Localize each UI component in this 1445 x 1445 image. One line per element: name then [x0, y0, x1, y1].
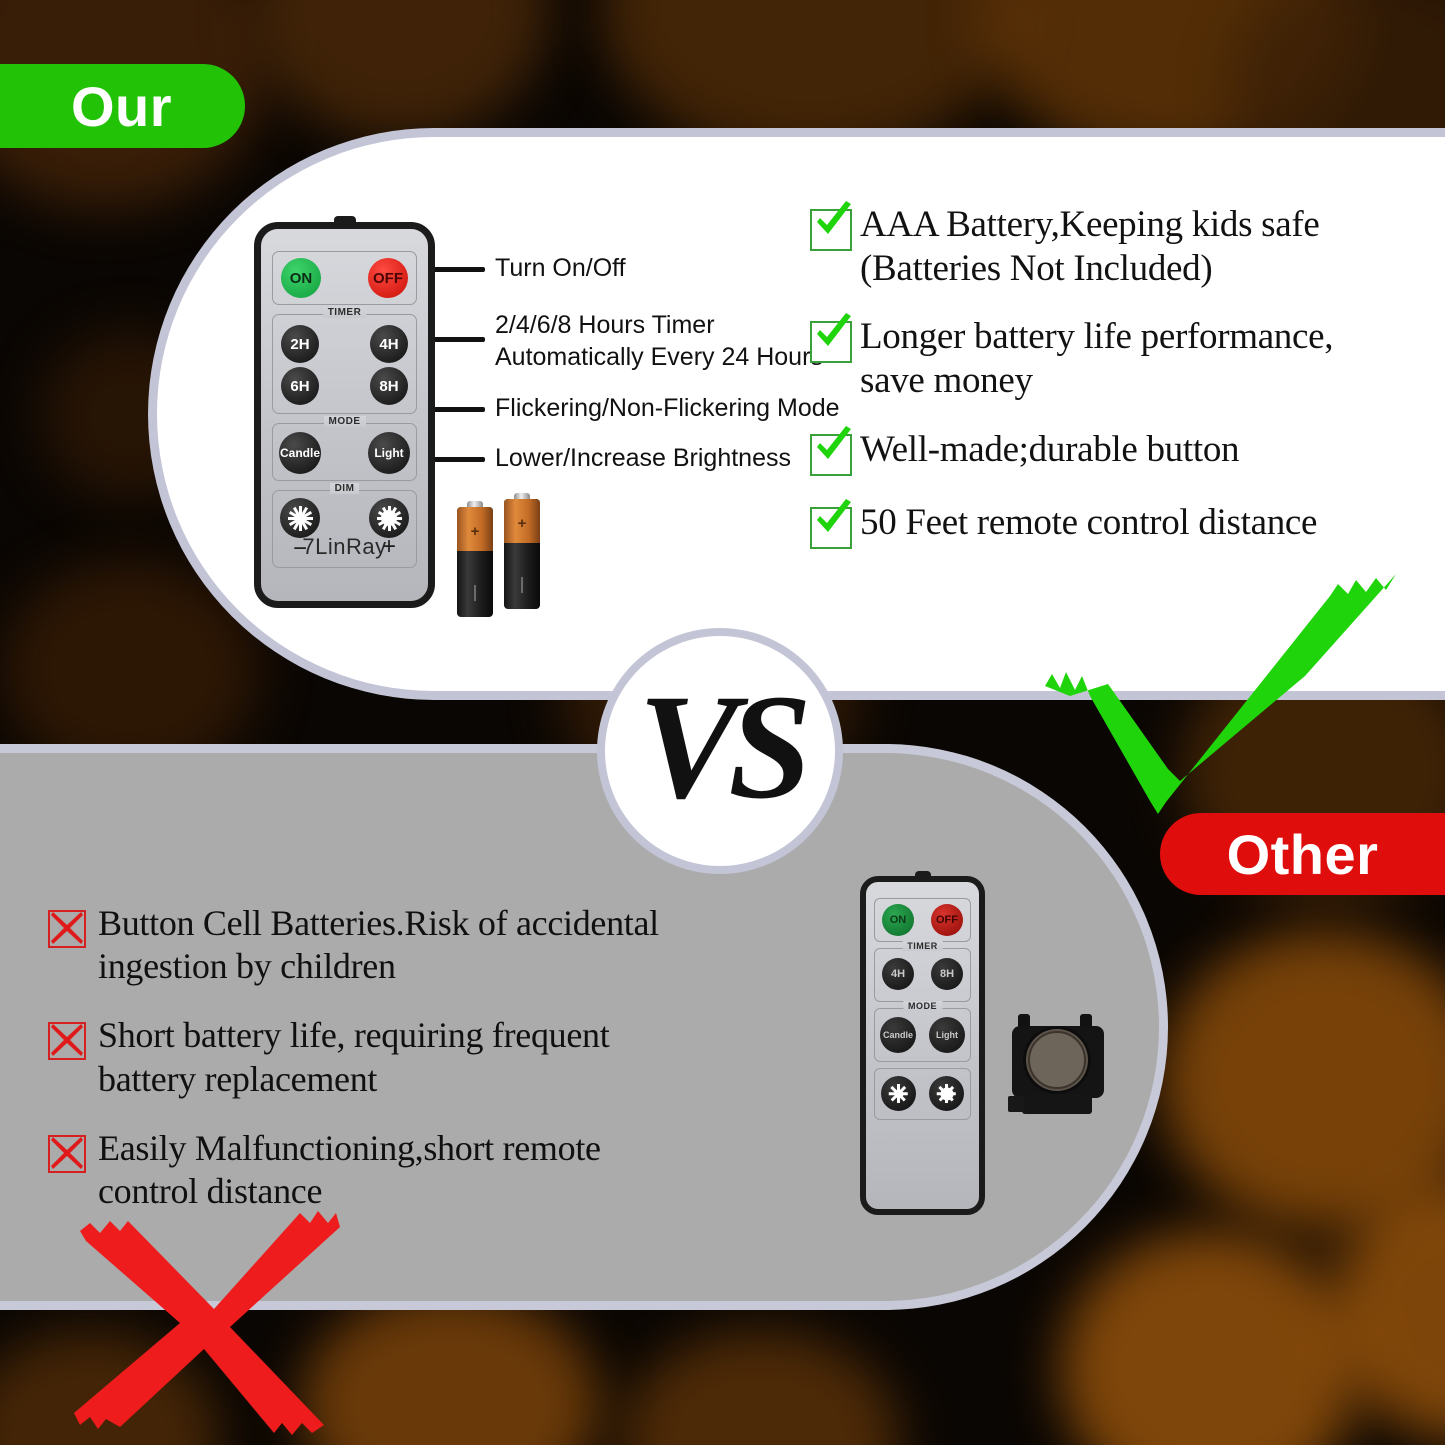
our-badge: Our: [0, 64, 245, 148]
annotation-turn-on-off: Turn On/Off: [495, 252, 626, 284]
pro-item: Longer battery life performance, save mo…: [810, 315, 1430, 402]
annotation-timer-line2: Automatically Every 24 Hours: [495, 341, 823, 373]
con-line-1: Easily Malfunctioning,short remote: [98, 1128, 601, 1168]
battery-stripe: [474, 585, 476, 601]
annotation-timer-line1: 2/4/6/8 Hours Timer: [495, 309, 823, 341]
pros-list: AAA Battery,Keeping kids safe (Batteries…: [810, 203, 1430, 574]
our-badge-label: Our: [71, 74, 172, 139]
battery-stripe: [521, 577, 523, 593]
con-item-text: Button Cell Batteries.Risk of accidental…: [98, 902, 659, 988]
pro-item-text: AAA Battery,Keeping kids safe (Batteries…: [860, 203, 1320, 290]
checkbox-crossed-icon: [48, 1135, 86, 1173]
pro-line-1: Well-made;durable button: [860, 429, 1239, 470]
con-item: Button Cell Batteries.Risk of accidental…: [48, 902, 778, 988]
pro-item: 50 Feet remote control distance: [810, 501, 1430, 549]
annotation-leader-line: [433, 267, 485, 272]
timer-4h-button[interactable]: 4H: [370, 325, 408, 363]
dim-decrease-button[interactable]: [280, 498, 320, 538]
mode-candle-button[interactable]: Candle: [880, 1017, 916, 1053]
dim-group-label: DIM: [330, 483, 360, 494]
coin-cell-battery-holder-icon: [1004, 1008, 1111, 1126]
mode-candle-button[interactable]: Candle: [279, 432, 321, 474]
our-remote-control: ON OFF TIMER 2H 4H 6H 8H MODE Candle Lig…: [254, 222, 435, 608]
other-remote-control: ON OFF TIMER 4H 8H MODE Candle Light: [860, 876, 985, 1215]
battery-plus-label: +: [471, 523, 480, 540]
annotation-leader-line: [433, 407, 485, 412]
cross-icon: [47, 1020, 87, 1060]
con-item: Short battery life, requiring frequent b…: [48, 1014, 778, 1100]
vs-badge: VS: [597, 628, 843, 874]
mode-button-group: MODE Candle Light: [874, 1008, 971, 1062]
power-off-button[interactable]: OFF: [931, 904, 963, 936]
pro-item-text: 50 Feet remote control distance: [860, 501, 1317, 545]
timer-4h-button[interactable]: 4H: [882, 958, 914, 990]
annotation-leader-line: [433, 457, 485, 462]
power-on-button[interactable]: ON: [281, 258, 321, 298]
brightness-low-icon: [287, 505, 313, 531]
bokeh-light: [250, 0, 550, 140]
power-off-button[interactable]: OFF: [368, 258, 408, 298]
mode-light-button[interactable]: Light: [929, 1017, 965, 1053]
pro-item: AAA Battery,Keeping kids safe (Batteries…: [810, 203, 1430, 290]
bokeh-light: [1060, 1230, 1360, 1445]
checkbox-crossed-icon: [48, 1022, 86, 1060]
infographic-canvas: ON OFF TIMER 2H 4H 6H 8H MODE Candle Lig…: [0, 0, 1445, 1445]
annotation-timer: 2/4/6/8 Hours Timer Automatically Every …: [495, 309, 823, 373]
power-button-group: ON OFF: [272, 251, 417, 305]
checkbox-checked-icon: [810, 209, 852, 251]
checkbox-checked-icon: [810, 507, 852, 549]
big-cross-icon: [62, 1197, 347, 1445]
timer-2h-button[interactable]: 2H: [281, 325, 319, 363]
timer-8h-button[interactable]: 8H: [931, 958, 963, 990]
timer-8h-button[interactable]: 8H: [370, 367, 408, 405]
pro-line-2: (Batteries Not Included): [860, 248, 1212, 289]
con-line-1: Button Cell Batteries.Risk of accidental: [98, 903, 659, 943]
con-item-text: Short battery life, requiring frequent b…: [98, 1014, 609, 1100]
pro-item-text: Longer battery life performance, save mo…: [860, 315, 1333, 402]
mode-group-label: MODE: [324, 416, 366, 427]
con-line-1: Short battery life, requiring frequent: [98, 1015, 609, 1055]
cross-icon: [47, 908, 87, 948]
aaa-battery: +: [457, 507, 493, 617]
power-on-button[interactable]: ON: [882, 904, 914, 936]
dim-increase-button[interactable]: [929, 1076, 964, 1111]
brightness-low-icon: [889, 1084, 909, 1104]
vs-label: VS: [638, 672, 801, 822]
power-button-group: ON OFF: [874, 898, 971, 942]
bokeh-light: [1160, 930, 1445, 1230]
check-icon: [810, 311, 856, 357]
pro-item-text: Well-made;durable button: [860, 428, 1239, 472]
mode-button-group: MODE Candle Light: [272, 423, 417, 481]
check-icon: [810, 424, 856, 470]
timer-button-group: TIMER 4H 8H: [874, 948, 971, 1002]
pro-line-1: Longer battery life performance,: [860, 316, 1333, 357]
pro-line-1: 50 Feet remote control distance: [860, 502, 1317, 543]
con-line-2: battery replacement: [98, 1059, 377, 1099]
checkbox-checked-icon: [810, 321, 852, 363]
timer-group-label: TIMER: [323, 307, 367, 318]
con-line-2: ingestion by children: [98, 946, 396, 986]
dim-increase-button[interactable]: [369, 498, 409, 538]
remote-ir-nub: [915, 871, 931, 880]
check-icon: [810, 497, 856, 543]
cons-list: Button Cell Batteries.Risk of accidental…: [48, 902, 778, 1239]
annotation-mode: Flickering/Non-Flickering Mode: [495, 392, 840, 424]
timer-6h-button[interactable]: 6H: [281, 367, 319, 405]
checkbox-crossed-icon: [48, 910, 86, 948]
mode-group-label: MODE: [903, 1001, 942, 1011]
remote-brand-label: 7LinRay: [261, 534, 428, 560]
pro-line-1: AAA Battery,Keeping kids safe: [860, 204, 1320, 245]
brightness-high-icon: [937, 1084, 957, 1104]
big-check-icon: [1030, 556, 1445, 856]
check-icon: [810, 199, 856, 245]
annotation-brightness: Lower/Increase Brightness: [495, 442, 791, 474]
timer-button-group: TIMER 2H 4H 6H 8H: [272, 314, 417, 414]
pro-item: Well-made;durable button: [810, 428, 1430, 476]
checkbox-checked-icon: [810, 434, 852, 476]
brightness-high-icon: [376, 505, 402, 531]
annotation-leader-line: [433, 337, 485, 342]
timer-group-label: TIMER: [902, 941, 943, 951]
bokeh-light: [620, 1330, 900, 1445]
battery-plus-label: +: [518, 515, 527, 532]
mode-light-button[interactable]: Light: [368, 432, 410, 474]
remote-ir-nub: [334, 216, 356, 227]
cross-icon: [47, 1133, 87, 1173]
dim-decrease-button[interactable]: [881, 1076, 916, 1111]
pro-line-2: save money: [860, 360, 1033, 401]
aaa-battery: +: [504, 499, 540, 609]
dim-button-group: [874, 1068, 971, 1120]
